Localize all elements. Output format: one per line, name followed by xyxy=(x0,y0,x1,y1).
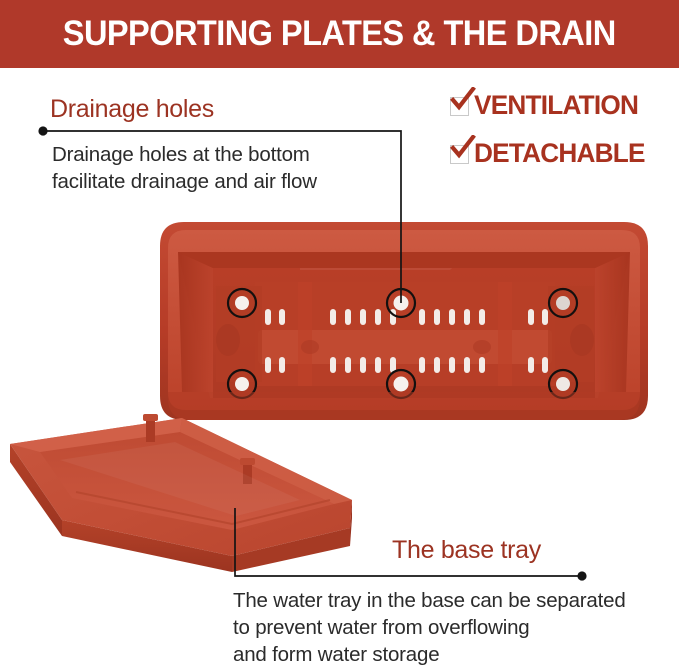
drain-hole-ring-icon xyxy=(387,370,415,398)
feature-label: VENTILATION xyxy=(474,90,638,121)
page-title: SUPPORTING PLATES & THE DRAIN xyxy=(63,16,616,53)
drainage-holes xyxy=(228,289,577,398)
feature-label: DETACHABLE xyxy=(474,138,645,169)
vent-slots-lower xyxy=(265,357,548,373)
feature-list: VENTILATION DETACHABLE xyxy=(450,86,675,182)
drain-hole-ring-icon xyxy=(549,370,577,398)
drain-hole-ring-icon xyxy=(387,289,415,317)
checkbox-checked-icon xyxy=(450,145,469,164)
drain-hole-ring-icon xyxy=(228,289,256,317)
callout-title-drainage-holes: Drainage holes xyxy=(50,95,214,124)
vent-slots-upper xyxy=(265,309,548,325)
tray-post xyxy=(143,414,158,442)
feature-item-detachable: DETACHABLE xyxy=(450,134,675,172)
callout-body-drainage-holes: Drainage holes at the bottom facilitate … xyxy=(52,141,317,195)
drain-hole-ring-icon xyxy=(549,289,577,317)
tray-post xyxy=(240,458,255,484)
infographic-page: SUPPORTING PLATES & THE DRAIN xyxy=(0,0,679,671)
header-band: SUPPORTING PLATES & THE DRAIN xyxy=(0,0,679,68)
base-tray xyxy=(10,414,352,572)
callout-body-base-tray: The water tray in the base can be separa… xyxy=(233,587,626,668)
callout-title-base-tray: The base tray xyxy=(392,536,541,565)
feature-item-ventilation: VENTILATION xyxy=(450,86,675,124)
drain-hole-ring-icon xyxy=(228,370,256,398)
planter-box xyxy=(160,222,648,420)
leader-dot-icon xyxy=(577,571,586,580)
checkbox-checked-icon xyxy=(450,97,469,116)
leader-dot-icon xyxy=(38,126,47,135)
